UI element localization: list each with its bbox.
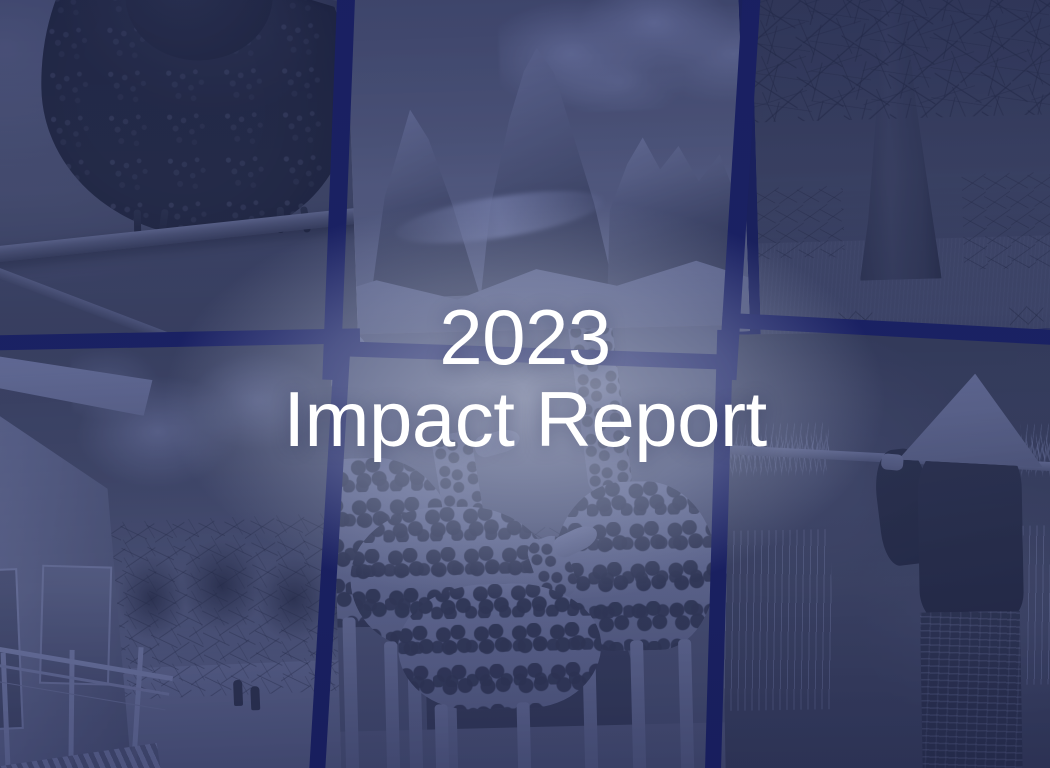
- photo-tile-mountain: [346, 0, 750, 345]
- tone-lift-overlay: [0, 329, 349, 768]
- impact-report-cover: 2023 Impact Report: [0, 0, 1050, 768]
- photo-tile-farmer: [718, 329, 1050, 768]
- photo-tile-bird: [0, 0, 361, 358]
- tone-lift-overlay: [330, 325, 733, 768]
- tone-lift-overlay: [718, 329, 1050, 768]
- tone-lift-overlay: [0, 0, 361, 358]
- photo-tile-giraffe: [330, 325, 733, 768]
- tone-lift-overlay: [346, 0, 750, 345]
- tone-lift-overlay: [751, 0, 1050, 336]
- photo-tile-village: [0, 329, 349, 768]
- photo-collage: [0, 0, 1050, 768]
- photo-tile-baobab: [751, 0, 1050, 336]
